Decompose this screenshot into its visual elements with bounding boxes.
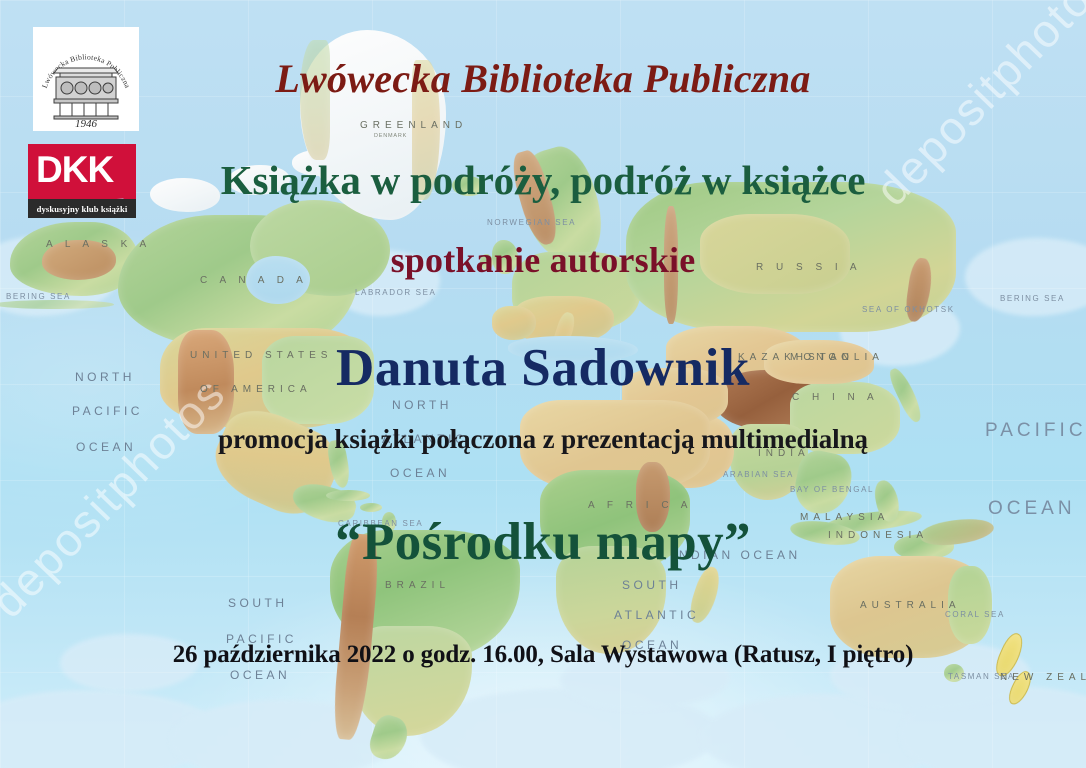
map-label-ocean: NORTH — [392, 398, 452, 412]
map-label-land: A F R I C A — [588, 500, 692, 511]
map-label-ocean: ATLANTIC — [614, 608, 699, 622]
promo-description: promocja książki połączona z prezentacją… — [0, 424, 1086, 455]
organization-title: Lwówecka Biblioteka Publiczna — [0, 55, 1086, 102]
poster-canvas: depositphotos depositphotos PACIFICOCEAN… — [0, 0, 1086, 768]
map-label-ocean: SOUTH — [622, 578, 682, 592]
author-name: Danuta Sadownik — [0, 338, 1086, 398]
map-label-sea: CORAL SEA — [945, 610, 1005, 619]
map-label-land: GREENLAND — [360, 120, 467, 131]
map-label-land: BRAZIL — [385, 580, 450, 591]
map-label-ocean: OCEAN — [230, 668, 290, 682]
map-label-ocean: PACIFIC — [72, 404, 143, 418]
map-label-land: NEW ZEALAND — [1000, 672, 1086, 683]
map-label-sea: LABRADOR SEA — [355, 288, 436, 297]
map-label-sea: BAY OF BENGAL — [790, 485, 874, 494]
event-datetime-venue: 26 października 2022 o godz. 16.00, Sala… — [0, 641, 1086, 669]
map-label-sea: SEA OF OKHOTSK — [862, 305, 955, 314]
map-label-sea: NORWEGIAN SEA — [487, 218, 576, 227]
map-label-sea: BERING SEA — [6, 292, 71, 301]
map-label-land-sub: DENMARK — [374, 133, 407, 139]
library-logo-year: 1946 — [75, 118, 98, 130]
event-subtitle: spotkanie autorskie — [0, 239, 1086, 281]
map-label-land: AUSTRALIA — [860, 600, 961, 611]
book-title: “Pośrodku mapy” — [0, 512, 1086, 572]
map-label-sea: BERING SEA — [1000, 294, 1065, 303]
map-label-ocean: SOUTH — [228, 596, 288, 610]
map-label-sea: TASMAN SEA — [948, 672, 1015, 681]
map-label-ocean: OCEAN — [390, 466, 450, 480]
watermark-left: depositphotos — [0, 366, 236, 628]
event-theme: Książka w podróży, podróż w książce — [0, 156, 1086, 204]
map-label-sea: ARABIAN SEA — [723, 470, 794, 479]
